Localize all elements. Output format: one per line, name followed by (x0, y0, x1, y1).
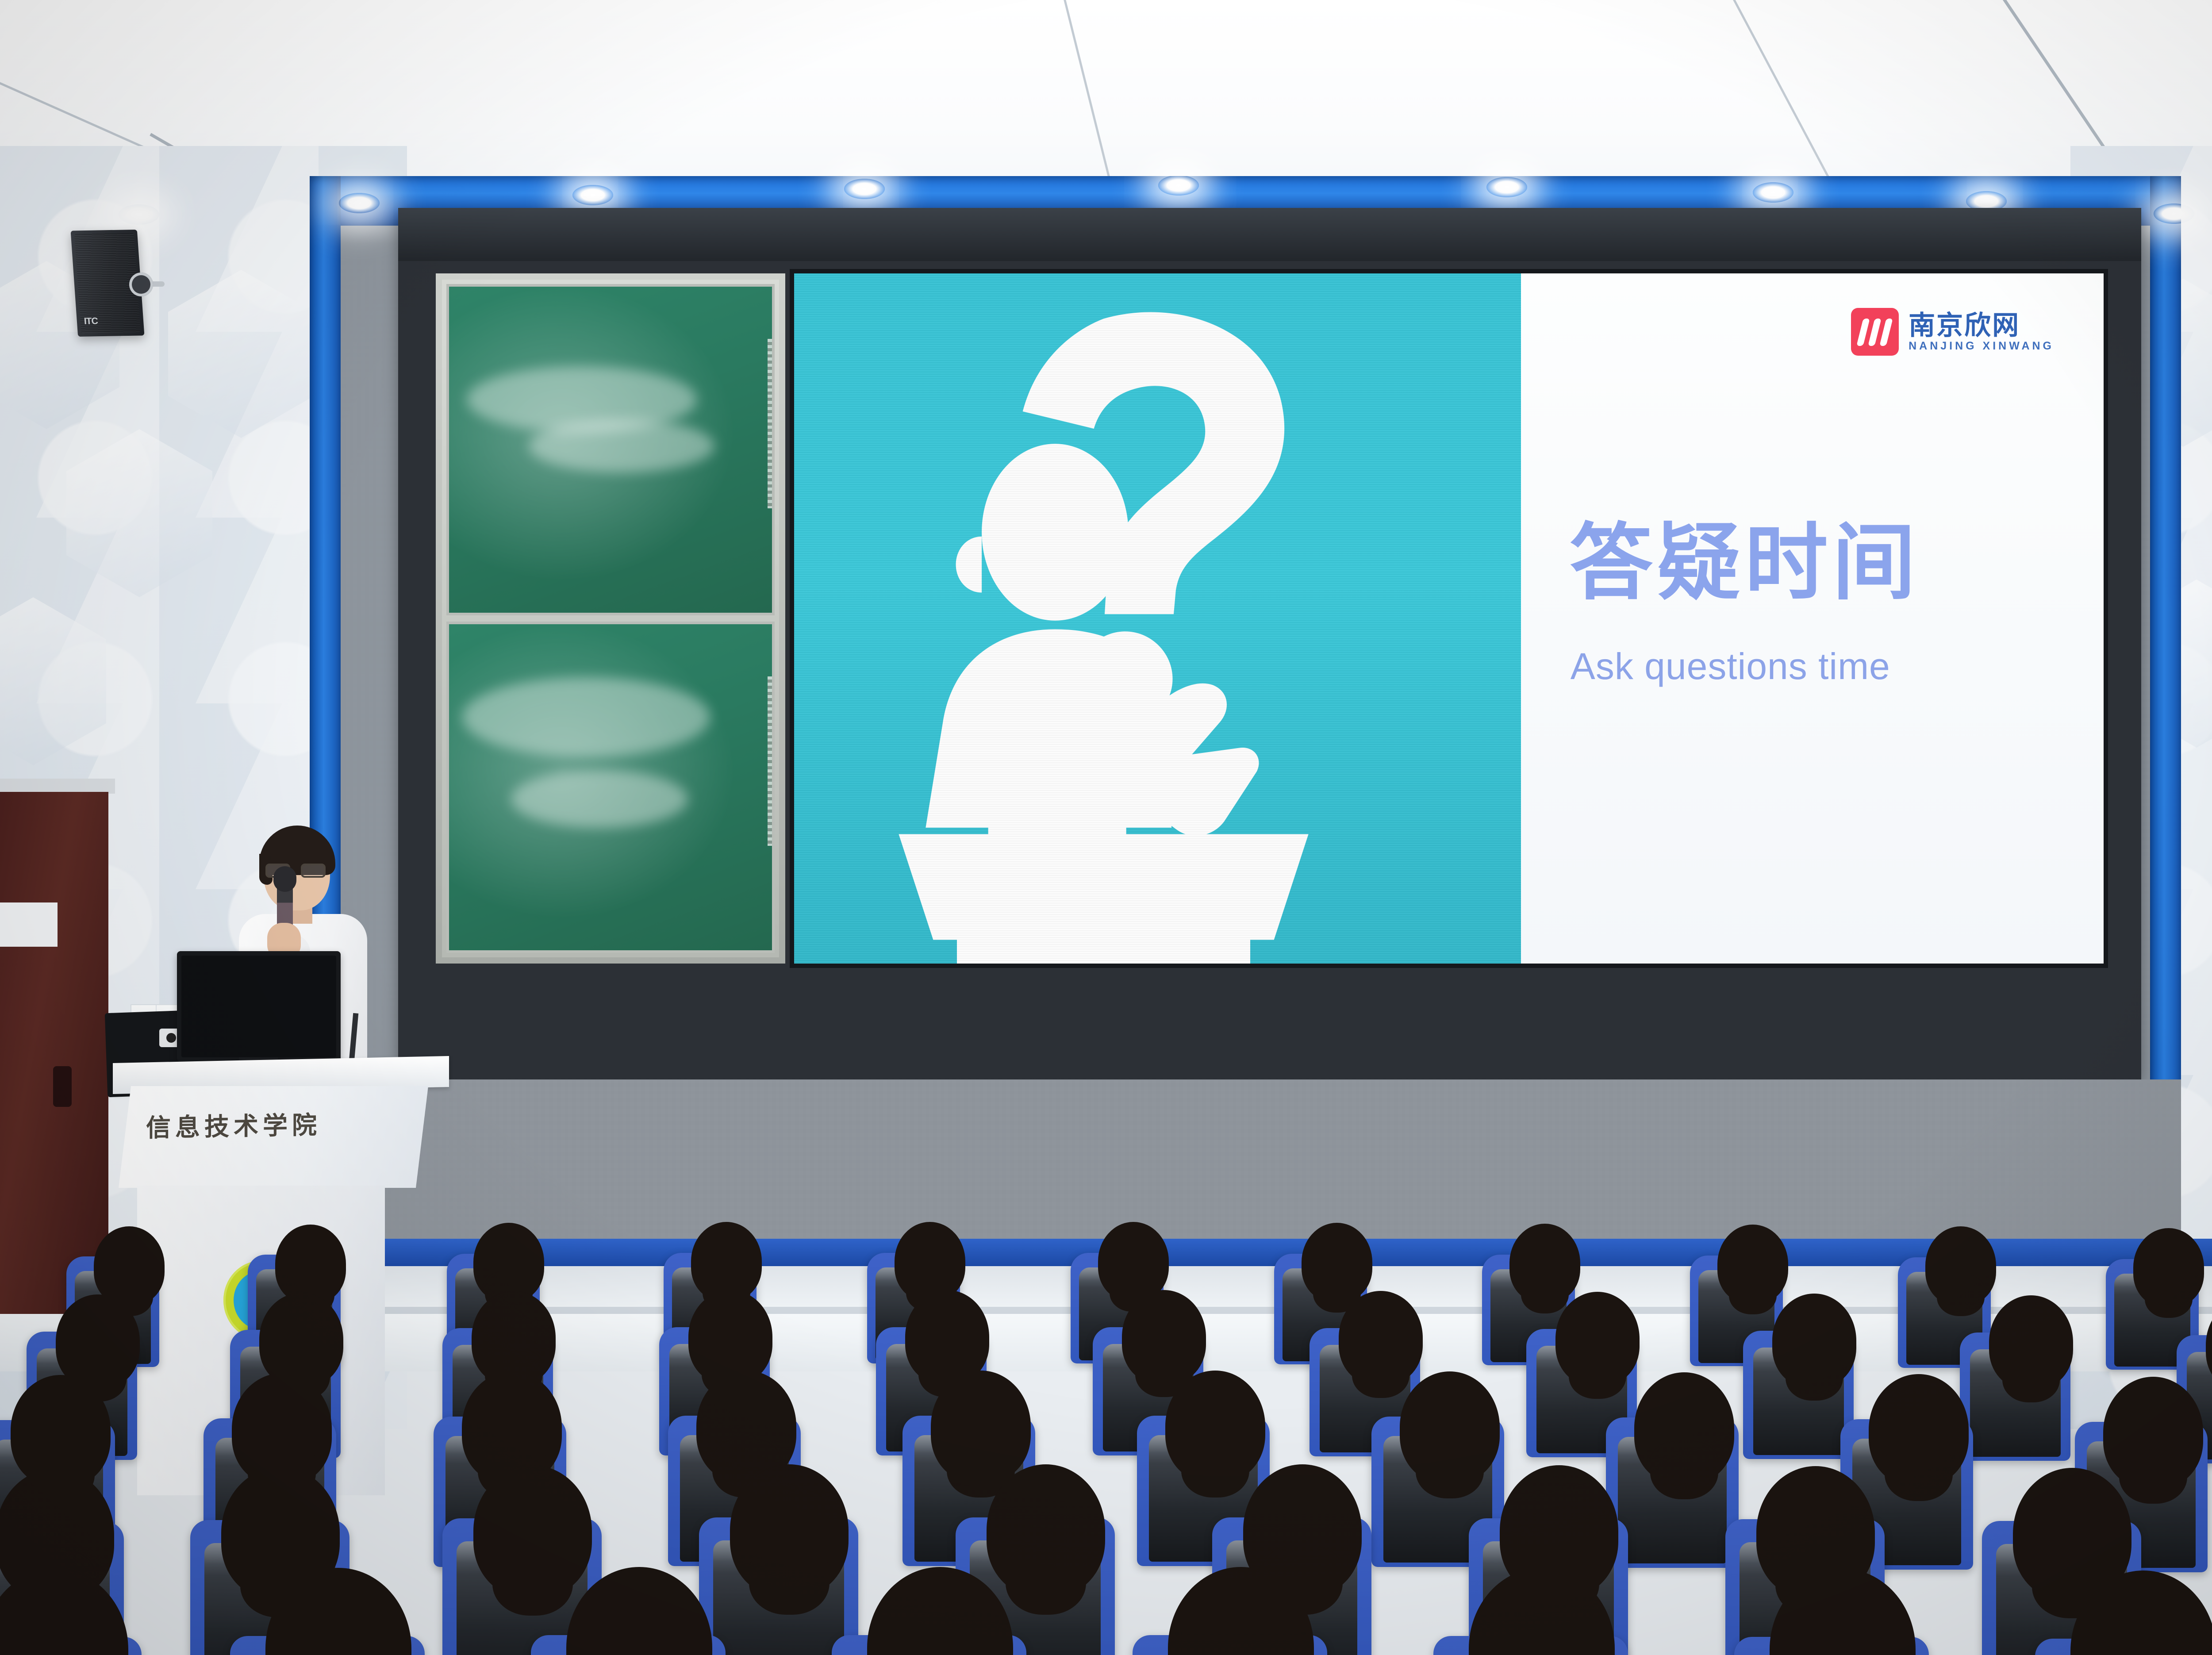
audience-person (1122, 1290, 1206, 1384)
slide-title: 答疑时间 (1570, 521, 1920, 604)
audience-person (1302, 1223, 1372, 1302)
audience-person (1339, 1291, 1423, 1385)
brand-wordmark: 南京欣网 NANJING XINWANG (1909, 312, 2054, 352)
audience-person (473, 1223, 544, 1302)
blue-trim-right (2150, 176, 2181, 1087)
audience-person (275, 1225, 346, 1303)
audience-person (1555, 1292, 1640, 1386)
ceiling-downlight (119, 204, 159, 225)
brand-name-en: NANJING XINWANG (1909, 341, 2054, 352)
ceiling-downlight (339, 193, 380, 213)
audience-person (1469, 1568, 1615, 1655)
door-header-left (0, 779, 115, 794)
audience-person (1925, 1226, 1996, 1305)
audience-person (0, 1569, 128, 1655)
nanjing-xinwang-logo-icon (1851, 308, 1899, 356)
door-handle-left[interactable] (53, 1066, 72, 1107)
podium-sign-text: 信息技术学院 (146, 1104, 394, 1144)
audience-person (1717, 1225, 1788, 1303)
chalk-smudge (529, 419, 714, 472)
chalk-marks (768, 339, 773, 508)
led-scanline-overlay (794, 273, 1521, 964)
brand-lockup: 南京欣网 NANJING XINWANG (1851, 308, 2054, 356)
audience-person (895, 1222, 965, 1301)
ceiling-downlight (1486, 177, 1527, 197)
speaker-mount-bracket (129, 273, 153, 296)
ceiling-downlight (1158, 175, 1199, 196)
led-presentation-screen[interactable]: 南京欣网 NANJING XINWANG 答疑时间 Ask questions … (794, 273, 2104, 964)
audience-person (472, 1291, 556, 1385)
display-enclosure-header (398, 208, 2141, 261)
slide-text-panel: 南京欣网 NANJING XINWANG 答疑时间 Ask questions … (1521, 273, 2104, 964)
chalk-smudge (462, 677, 710, 757)
ceiling-downlight (572, 185, 613, 205)
audience-person (94, 1226, 165, 1305)
chalk-marks (768, 676, 773, 846)
chalkboard-pane-upper (446, 284, 775, 615)
ceiling-downlight (1753, 182, 1793, 203)
audience-person (2133, 1228, 2204, 1307)
chalkboard-frame (442, 280, 779, 957)
audience-person (2206, 1298, 2212, 1392)
chalkboard-pane-lower (446, 622, 775, 953)
audience-person (1098, 1222, 1169, 1301)
audience-person (1400, 1371, 1500, 1483)
audience-area (0, 1212, 2212, 1655)
audience-person (1869, 1374, 1969, 1486)
audience-person (265, 1568, 411, 1655)
chalkboard (436, 273, 785, 964)
audience-person (1770, 1569, 1916, 1655)
audience-person (730, 1464, 849, 1596)
slide-subtitle: Ask questions time (1571, 645, 1890, 688)
audience-person (688, 1290, 772, 1384)
brand-name-cn: 南京欣网 (1909, 312, 2054, 339)
speaker-brand-label: ITC (84, 316, 98, 326)
ceiling-downlight (844, 179, 885, 199)
microphone-head (273, 866, 296, 892)
audience-person (1168, 1567, 1314, 1655)
slide-illustration-panel (794, 273, 1521, 964)
chalk-smudge (511, 770, 688, 828)
door-sign (0, 902, 58, 947)
monitor-screen (181, 956, 336, 1057)
lecture-hall-photo: 南京欣网 NANJING XINWANG 答疑时间 Ask questions … (0, 0, 2212, 1655)
wall-speaker-left: ITC (74, 230, 141, 336)
audience-person (905, 1290, 989, 1384)
audience-person (2070, 1571, 2212, 1655)
ceiling-downlight (2154, 204, 2194, 224)
audience-person (56, 1294, 140, 1388)
audience-person (566, 1567, 712, 1655)
podium-monitor[interactable] (177, 951, 341, 1062)
audience-person (1509, 1224, 1580, 1302)
audience-person (259, 1293, 343, 1386)
audience-person (1634, 1372, 1734, 1484)
audience-person (867, 1567, 1013, 1655)
audience-person (691, 1222, 762, 1301)
audience-person (1772, 1294, 1856, 1387)
audience-person (1989, 1295, 2073, 1389)
